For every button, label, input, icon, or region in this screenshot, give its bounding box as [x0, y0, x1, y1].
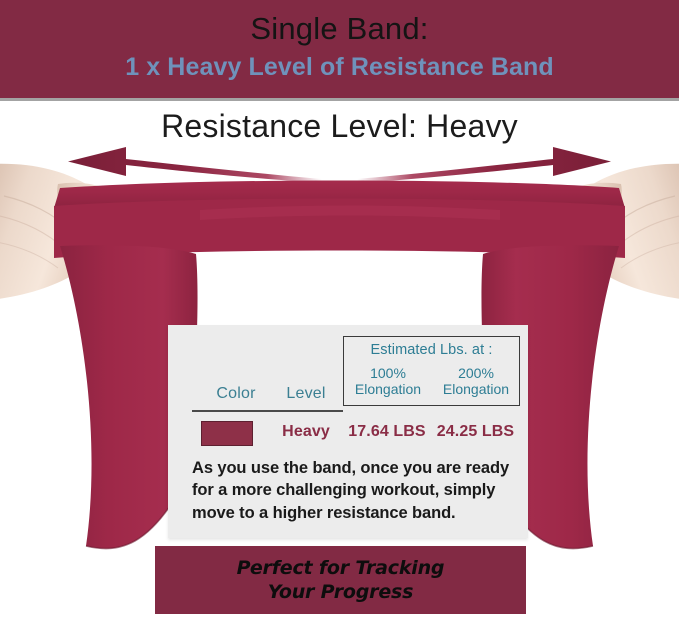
band-color-swatch [201, 421, 253, 446]
usage-note: As you use the band, once you are ready … [192, 457, 510, 524]
column-header-100-elongation: 100% Elongation [344, 366, 432, 397]
cell-elongation-200-value: 24.25 LBS [431, 423, 520, 441]
cell-elongation-100-value: 17.64 LBS [343, 423, 431, 441]
elongation-100-label: Elongation [355, 381, 421, 397]
product-infographic: Single Band: 1 x Heavy Level of Resistan… [0, 0, 679, 621]
tagline-line-2: Your Progress [268, 581, 414, 603]
elongation-100-percent: 100% [370, 365, 406, 381]
tagline-banner: Perfect for Tracking Your Progress [155, 546, 526, 614]
resistance-level-headline: Resistance Level: Heavy [0, 108, 679, 145]
specs-panel: Estimated Lbs. at : 100% Elongation 200%… [168, 325, 528, 538]
estimated-lbs-box: Estimated Lbs. at : 100% Elongation 200%… [343, 336, 520, 406]
elongation-200-label: Elongation [443, 381, 509, 397]
header-banner: Single Band: 1 x Heavy Level of Resistan… [0, 0, 679, 101]
tagline-line-1: Perfect for Tracking [237, 557, 445, 579]
estimated-lbs-title: Estimated Lbs. at : [344, 342, 519, 358]
tagline-text: Perfect for Tracking Your Progress [155, 556, 526, 605]
page-subtitle: 1 x Heavy Level of Resistance Band [0, 54, 679, 82]
column-header-level: Level [272, 385, 340, 403]
table-header-divider [192, 410, 343, 412]
column-header-color: Color [202, 385, 270, 403]
column-header-200-elongation: 200% Elongation [432, 366, 520, 397]
page-title: Single Band: [0, 12, 679, 46]
elongation-200-percent: 200% [458, 365, 494, 381]
cell-level-value: Heavy [272, 423, 340, 441]
